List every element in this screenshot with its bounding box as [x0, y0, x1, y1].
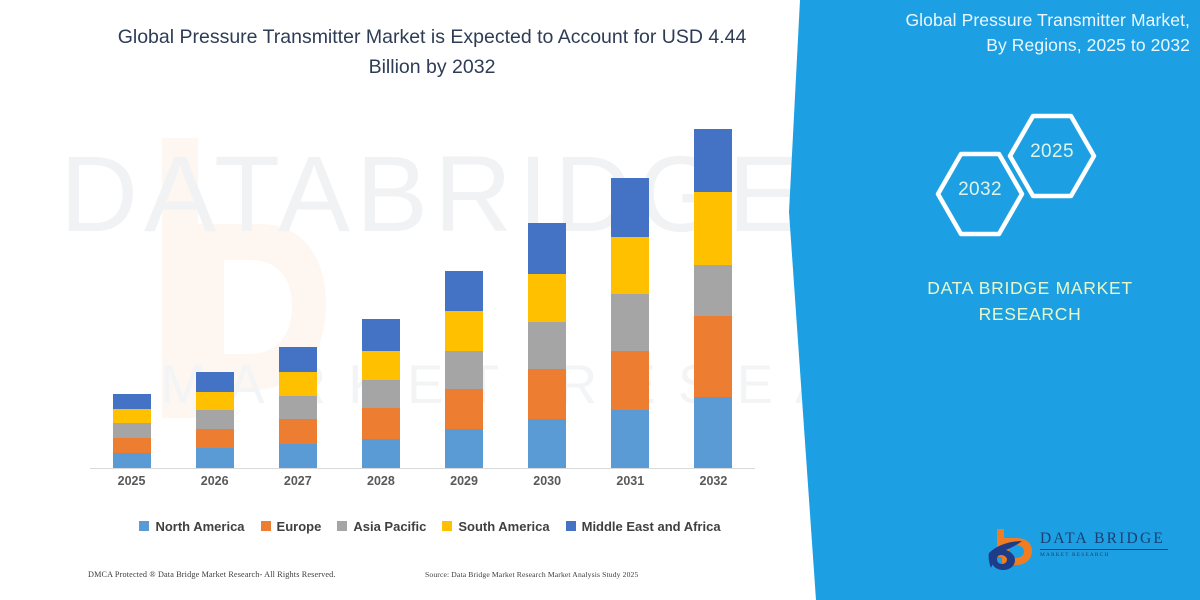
stacked-bar[interactable]: [445, 271, 483, 468]
bar-segment[interactable]: [279, 396, 317, 419]
bar-segment[interactable]: [196, 429, 234, 449]
footer: DMCA Protected ® Data Bridge Market Rese…: [0, 566, 800, 596]
bar-slot: [173, 120, 256, 468]
bar-slot: [90, 120, 173, 468]
bar-segment[interactable]: [279, 372, 317, 396]
stacked-bar[interactable]: [113, 394, 151, 468]
bar-segment[interactable]: [113, 438, 151, 453]
legend-label: Europe: [277, 519, 322, 534]
bar-segment[interactable]: [445, 389, 483, 429]
bar-group: [90, 120, 755, 468]
bar-segment[interactable]: [611, 178, 649, 238]
bar-segment[interactable]: [196, 448, 234, 468]
bar-segment[interactable]: [694, 397, 732, 468]
panel-title: Global Pressure Transmitter Market, By R…: [845, 8, 1190, 59]
bar-segment[interactable]: [611, 237, 649, 294]
x-axis-label: 2032: [672, 474, 755, 496]
infographic-canvas: DATABRIDGE MARKET RESEARCH Global Pressu…: [0, 0, 1200, 600]
stacked-bar[interactable]: [196, 372, 234, 468]
legend-item[interactable]: Europe: [261, 519, 322, 534]
stacked-bar[interactable]: [362, 319, 400, 468]
legend-label: South America: [458, 519, 549, 534]
brand-line-2: RESEARCH: [880, 301, 1180, 327]
bar-segment[interactable]: [445, 429, 483, 468]
logo-name: DATA BRIDGE: [1040, 531, 1180, 547]
bar-segment[interactable]: [694, 316, 732, 398]
bar-segment[interactable]: [445, 271, 483, 311]
bar-slot: [423, 120, 506, 468]
bar-segment[interactable]: [362, 439, 400, 468]
legend-item[interactable]: Asia Pacific: [337, 519, 426, 534]
bar-slot: [256, 120, 339, 468]
bar-segment[interactable]: [445, 351, 483, 389]
hexagon-start-year-label: 2025: [1006, 141, 1098, 163]
stacked-bar-chart: [90, 120, 755, 468]
chart-legend: North AmericaEuropeAsia PacificSouth Ame…: [90, 514, 770, 538]
x-axis-label: 2029: [423, 474, 506, 496]
legend-swatch-icon: [261, 521, 271, 531]
footer-source: Source: Data Bridge Market Research Mark…: [425, 570, 638, 579]
x-axis-label: 2025: [90, 474, 173, 496]
bar-segment[interactable]: [196, 372, 234, 392]
data-bridge-logo: DATA BRIDGE MARKET RESEARCH: [988, 527, 1188, 575]
footer-copyright: DMCA Protected ® Data Bridge Market Rese…: [88, 570, 336, 579]
bar-segment[interactable]: [611, 410, 649, 468]
bar-segment[interactable]: [445, 311, 483, 350]
data-bridge-logo-icon: [988, 527, 1034, 571]
stacked-bar[interactable]: [611, 178, 649, 468]
bar-segment[interactable]: [528, 322, 566, 369]
bar-segment[interactable]: [611, 294, 649, 351]
panel-title-line1: Global Pressure Transmitter Market,: [845, 8, 1190, 33]
stacked-bar[interactable]: [694, 129, 732, 468]
legend-swatch-icon: [566, 521, 576, 531]
bar-segment[interactable]: [113, 423, 151, 437]
bar-segment[interactable]: [362, 380, 400, 408]
stacked-bar[interactable]: [528, 223, 566, 468]
brand-line-1: DATA BRIDGE MARKET: [880, 275, 1180, 301]
x-axis-line: [90, 468, 755, 469]
bar-segment[interactable]: [694, 265, 732, 316]
bar-slot: [589, 120, 672, 468]
data-bridge-logo-text: DATA BRIDGE MARKET RESEARCH: [1040, 531, 1180, 558]
legend-item[interactable]: Middle East and Africa: [566, 519, 721, 534]
bar-segment[interactable]: [196, 410, 234, 428]
bar-segment[interactable]: [362, 351, 400, 380]
bar-segment[interactable]: [113, 453, 151, 468]
bar-segment[interactable]: [694, 192, 732, 265]
legend-swatch-icon: [139, 521, 149, 531]
legend-label: North America: [155, 519, 244, 534]
bar-segment[interactable]: [362, 319, 400, 351]
x-axis-labels: 20252026202720282029203020312032: [90, 474, 755, 496]
legend-swatch-icon: [337, 521, 347, 531]
logo-divider: [1040, 549, 1168, 550]
x-axis-label: 2028: [339, 474, 422, 496]
legend-swatch-icon: [442, 521, 452, 531]
x-axis-label: 2031: [589, 474, 672, 496]
logo-tagline: MARKET RESEARCH: [1040, 552, 1180, 558]
bar-segment[interactable]: [528, 223, 566, 274]
legend-item[interactable]: South America: [442, 519, 549, 534]
bar-segment[interactable]: [528, 419, 566, 468]
bar-segment[interactable]: [279, 347, 317, 372]
chart-title: Global Pressure Transmitter Market is Ex…: [96, 22, 768, 82]
bar-segment[interactable]: [611, 351, 649, 411]
x-axis-label: 2026: [173, 474, 256, 496]
bar-segment[interactable]: [113, 394, 151, 409]
bar-segment[interactable]: [196, 392, 234, 410]
legend-label: Asia Pacific: [353, 519, 426, 534]
bar-slot: [339, 120, 422, 468]
brand-name: DATA BRIDGE MARKET RESEARCH: [880, 275, 1180, 328]
panel-title-line2: By Regions, 2025 to 2032: [845, 33, 1190, 58]
bar-segment[interactable]: [362, 408, 400, 438]
legend-item[interactable]: North America: [139, 519, 244, 534]
bar-slot: [506, 120, 589, 468]
x-axis-label: 2030: [506, 474, 589, 496]
x-axis-label: 2027: [256, 474, 339, 496]
bar-segment[interactable]: [113, 409, 151, 423]
bar-segment[interactable]: [528, 369, 566, 419]
stacked-bar[interactable]: [279, 347, 317, 468]
bar-segment[interactable]: [694, 129, 732, 192]
bar-segment[interactable]: [279, 444, 317, 468]
hexagon-start-year: 2025: [1006, 110, 1098, 202]
bar-segment[interactable]: [528, 274, 566, 322]
bar-slot: [672, 120, 755, 468]
bar-segment[interactable]: [279, 419, 317, 444]
legend-label: Middle East and Africa: [582, 519, 721, 534]
